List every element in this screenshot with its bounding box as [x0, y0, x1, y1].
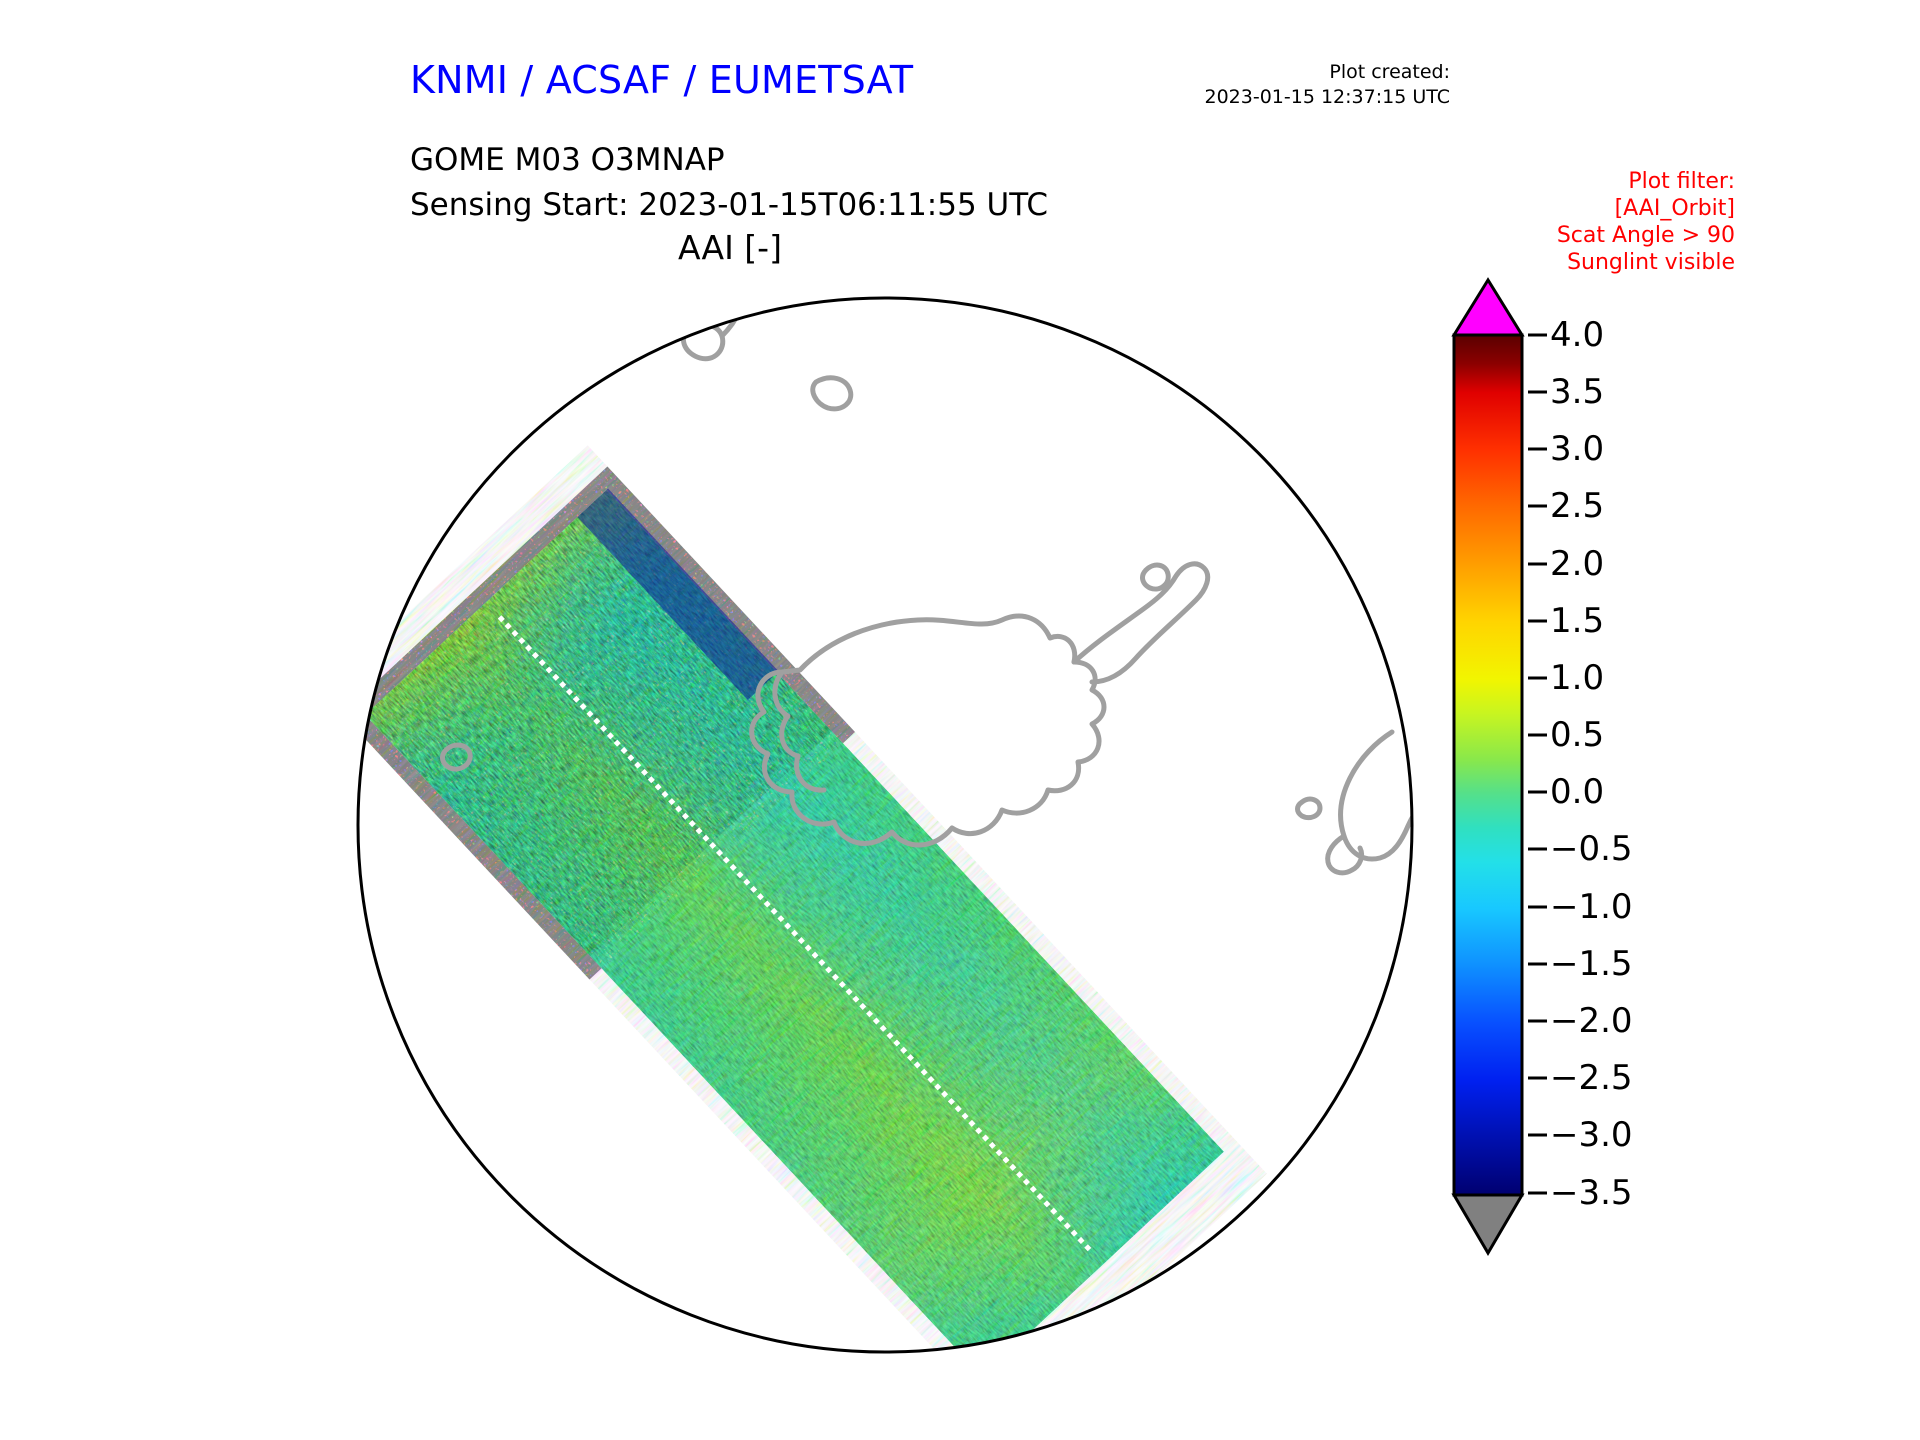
colorbar-label-0.5: 0.5: [1550, 715, 1604, 755]
colorbar-tick: [1528, 1020, 1547, 1023]
colorbar-label-1.0: 1.0: [1550, 658, 1604, 698]
colorbar-tick: [1528, 677, 1547, 680]
colorbar-label-neg1.0: −1.0: [1550, 887, 1633, 927]
colorbar-label-neg2.5: −2.5: [1550, 1058, 1633, 1098]
plot-filter-line-2: Scat Angle > 90: [1557, 222, 1735, 249]
colorbar-label-3.5: 3.5: [1550, 372, 1604, 412]
plot-created-label: Plot created:: [1205, 60, 1451, 85]
map-svg: [330, 270, 1440, 1380]
plot-filter-block: Plot filter: [AAI_Orbit] Scat Angle > 90…: [1557, 168, 1735, 276]
colorbar-tick: [1528, 963, 1547, 966]
colorbar-label-neg1.5: −1.5: [1550, 944, 1633, 984]
plot-filter-line-3: Sunglint visible: [1557, 249, 1735, 276]
plot-filter-line-1: [AAI_Orbit]: [1557, 195, 1735, 222]
colorbar-tick: [1528, 906, 1547, 909]
colorbar: 4.0 3.5 3.0 2.5 2.0 1.5 1.0 0.5 0.0 −0.5…: [1440, 275, 1900, 1315]
colorbar-label-4.0: 4.0: [1550, 315, 1604, 355]
island-north-coast: [662, 276, 702, 288]
plot-filter-title: Plot filter:: [1557, 168, 1735, 195]
colorbar-tick: [1528, 563, 1547, 566]
colorbar-tick: [1528, 505, 1547, 508]
plot-created-block: Plot created: 2023-01-15 12:37:15 UTC: [1205, 60, 1451, 110]
colorbar-over-arrow: [1454, 280, 1522, 335]
colorbar-tick: [1528, 848, 1547, 851]
colorbar-tick: [1528, 448, 1547, 451]
colorbar-label-0.0: 0.0: [1550, 772, 1604, 812]
colorbar-tick: [1528, 1077, 1547, 1080]
colorbar-tick: [1528, 334, 1547, 337]
colorbar-label-neg3.5: −3.5: [1550, 1173, 1633, 1213]
colorbar-label-1.5: 1.5: [1550, 601, 1604, 641]
metadata-block: GOME M03 O3MNAP Sensing Start: 2023-01-1…: [410, 138, 1048, 228]
colorbar-bar: [1454, 335, 1522, 1195]
colorbar-tick: [1528, 1192, 1547, 1195]
plot-created-timestamp: 2023-01-15 12:37:15 UTC: [1205, 85, 1451, 110]
colorbar-tick: [1528, 391, 1547, 394]
colorbar-label-neg2.0: −2.0: [1550, 1001, 1633, 1041]
sensing-start-line: Sensing Start: 2023-01-15T06:11:55 UTC: [410, 183, 1048, 228]
colorbar-tick: [1528, 734, 1547, 737]
colorbar-label-neg0.5: −0.5: [1550, 829, 1633, 869]
colorbar-gradient-svg: [1440, 275, 1640, 1315]
variable-title: AAI [-]: [0, 228, 1460, 267]
colorbar-tick: [1528, 791, 1547, 794]
colorbar-tick: [1528, 620, 1547, 623]
colorbar-label-2.5: 2.5: [1550, 486, 1604, 526]
colorbar-label-3.0: 3.0: [1550, 429, 1604, 469]
colorbar-label-neg3.0: −3.0: [1550, 1115, 1633, 1155]
polar-map-plot: [330, 270, 1440, 1380]
colorbar-under-arrow: [1454, 1195, 1522, 1253]
header-institutions: KNMI / ACSAF / EUMETSAT: [410, 58, 913, 102]
instrument-line: GOME M03 O3MNAP: [410, 138, 1048, 183]
colorbar-tick: [1528, 1134, 1547, 1137]
colorbar-label-2.0: 2.0: [1550, 544, 1604, 584]
